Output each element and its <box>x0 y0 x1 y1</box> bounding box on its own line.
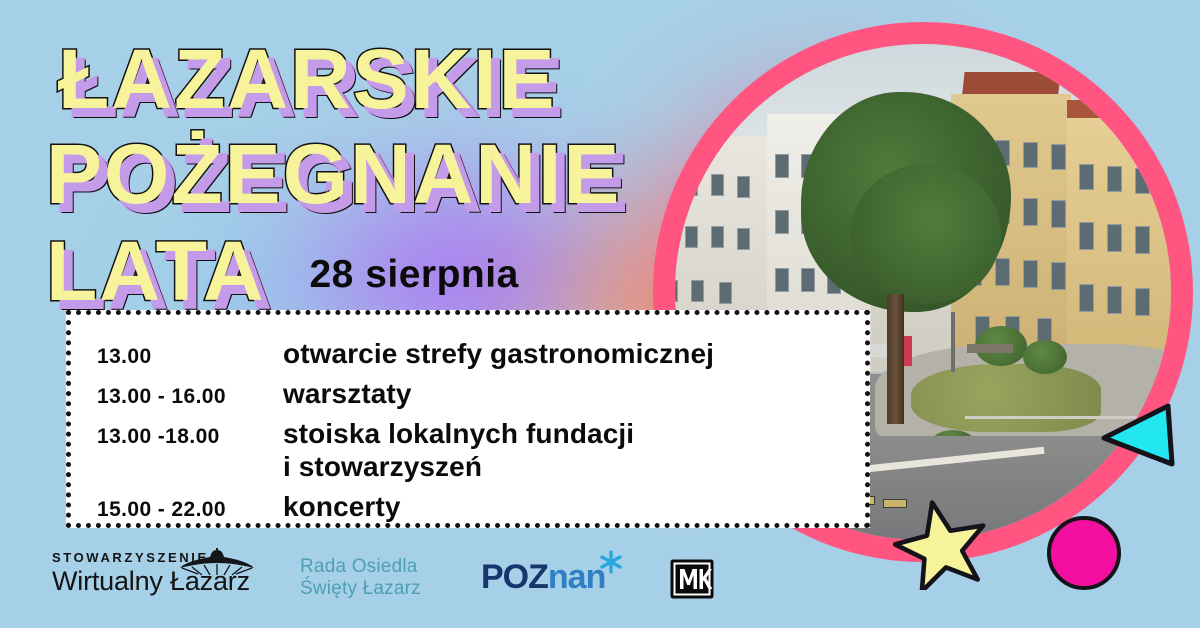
schedule-time: 13.00 - 16.00 <box>97 385 283 409</box>
title-line-2: POŻEGNANIE <box>46 133 621 216</box>
schedule-row: 13.00 - 16.00 warsztaty <box>97 377 865 410</box>
logo-rada-osiedla: Rada Osiedla Święty Łazarz <box>300 556 421 600</box>
schedule-desc: otwarcie strefy gastronomicznej <box>283 337 714 370</box>
asterisk-star-icon <box>598 549 624 575</box>
pavilion-dome-icon <box>178 548 256 576</box>
schedule-box: 13.00 otwarcie strefy gastronomicznej 13… <box>66 310 870 528</box>
mk-monogram-icon <box>669 558 715 600</box>
logo-poznan: POZnan <box>481 558 605 597</box>
logo-stowarzyszenie-wirtualny-lazarz: STOWARZYSZENIE Wirtualny Łazarz <box>52 550 250 597</box>
logo-ro-line1: Rada Osiedla <box>300 556 421 578</box>
schedule-desc: stoiska lokalnych fundacji i stowarzysze… <box>283 417 634 483</box>
schedule-time: 13.00 <box>97 345 283 369</box>
title-line-3: LATA <box>46 230 265 313</box>
schedule-row: 13.00 otwarcie strefy gastronomicznej <box>97 337 865 370</box>
title-line-1: ŁAZARSKIE <box>58 38 621 121</box>
schedule-time: 15.00 - 22.00 <box>97 498 283 522</box>
logo-mk <box>669 558 715 605</box>
schedule-desc: koncerty <box>283 490 401 523</box>
schedule-row: 15.00 - 22.00 koncerty <box>97 490 865 523</box>
logo-poznan-part2: nan <box>548 558 605 596</box>
logo-strip: STOWARZYSZENIE Wirtualny Łazarz Rada Osi… <box>0 544 1200 614</box>
logo-poznan-part1: POZ <box>481 558 548 596</box>
schedule-row: 13.00 -18.00 stoiska lokalnych fundacji … <box>97 417 865 483</box>
schedule-desc: warsztaty <box>283 377 412 410</box>
schedule-time: 13.00 -18.00 <box>97 425 283 449</box>
event-date: 28 sierpnia <box>309 253 518 313</box>
poster-title: ŁAZARSKIE POŻEGNANIE LATA 28 sierpnia <box>46 38 621 313</box>
event-poster: ŁAZARSKIE POŻEGNANIE LATA 28 sierpnia 13… <box>0 0 1200 628</box>
logo-ro-line2: Święty Łazarz <box>300 578 421 600</box>
triangle-icon <box>1098 398 1178 478</box>
